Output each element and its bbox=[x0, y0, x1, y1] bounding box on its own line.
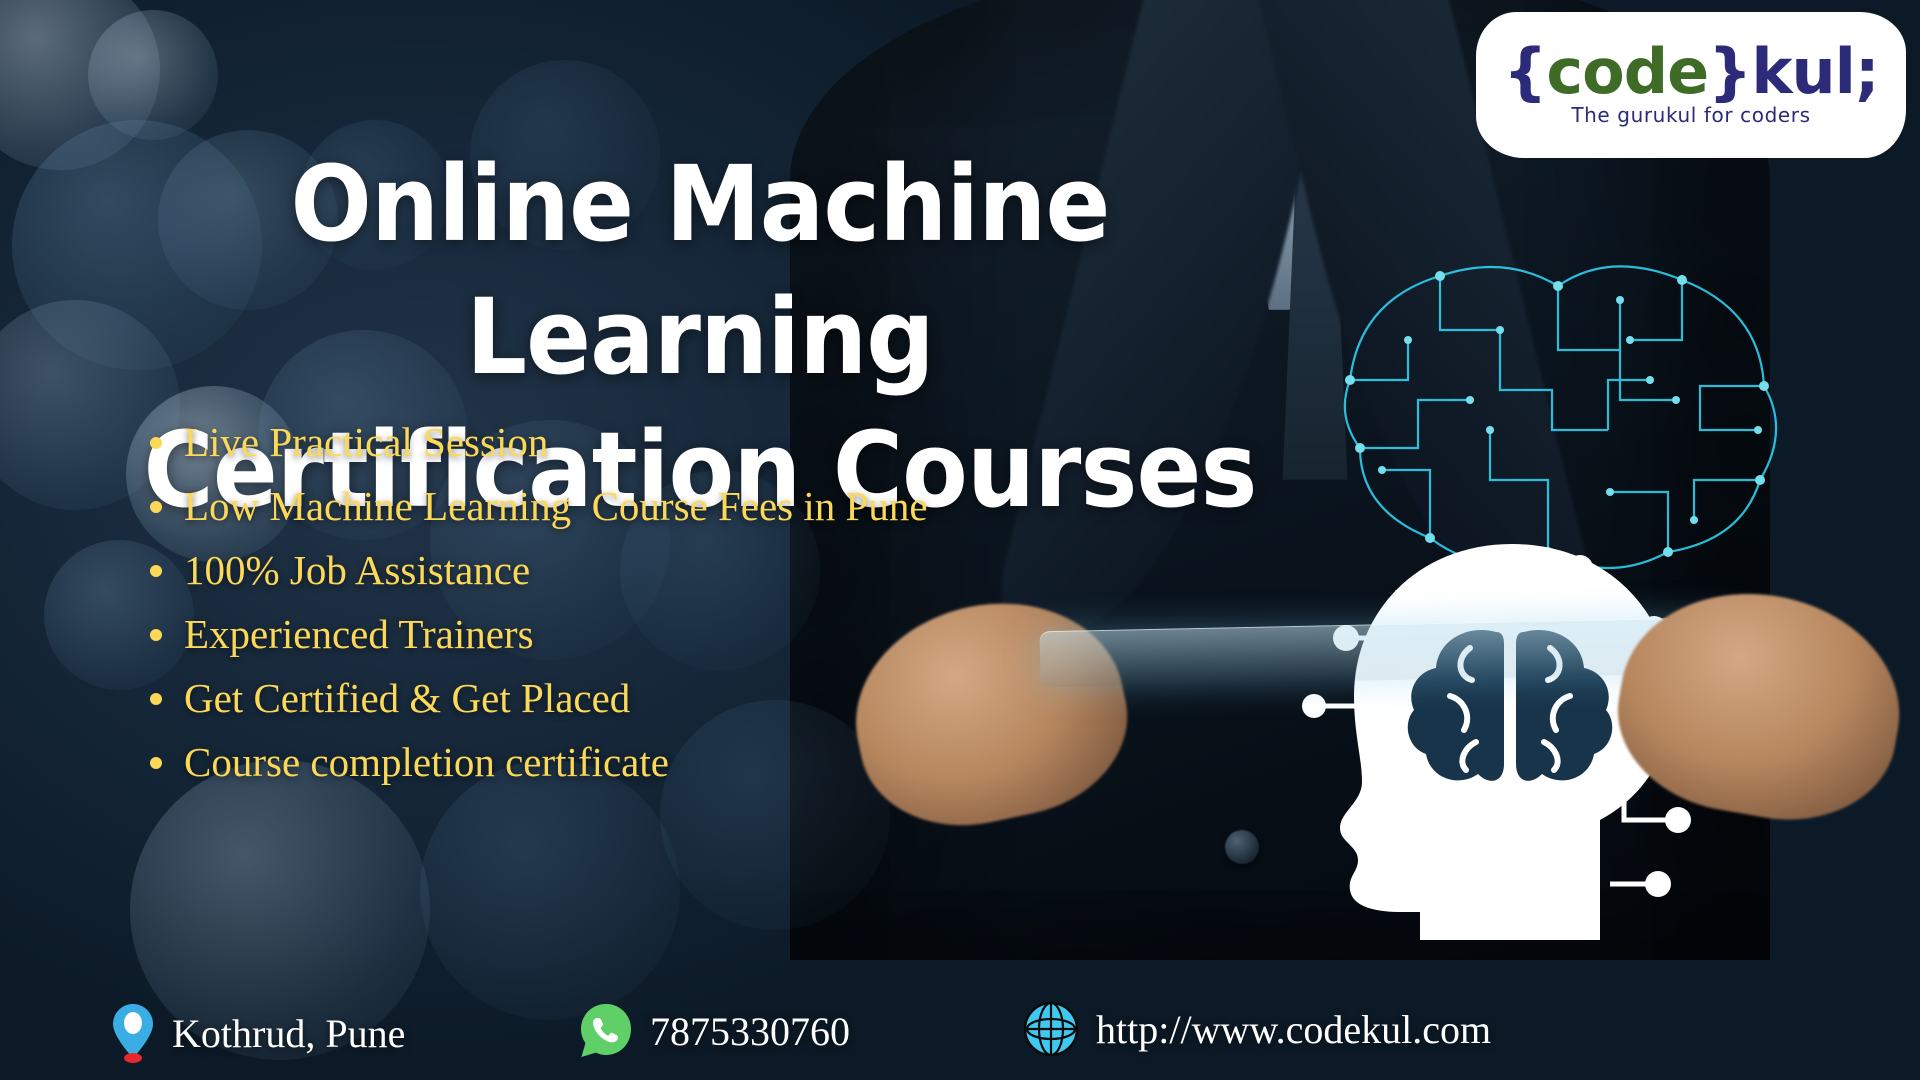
logo-brace-open: { bbox=[1503, 35, 1546, 108]
bullet-dot-icon bbox=[150, 629, 162, 641]
list-item-label: Course completion certificate bbox=[184, 739, 669, 785]
list-item: Get Certified & Get Placed bbox=[150, 678, 1170, 719]
contact-website[interactable]: http://www.codekul.com bbox=[1022, 1000, 1491, 1058]
logo-code-text: code bbox=[1546, 35, 1708, 108]
logo-kul-text: kul; bbox=[1751, 35, 1878, 108]
list-item: 100% Job Assistance bbox=[150, 550, 1170, 591]
phone-label: 7875330760 bbox=[650, 1008, 850, 1055]
bullet-dot-icon bbox=[150, 501, 162, 513]
logo-wordmark: {code}kul; bbox=[1503, 43, 1878, 102]
bullet-dot-icon bbox=[150, 437, 162, 449]
bullet-dot-icon bbox=[150, 757, 162, 769]
bullet-dot-icon bbox=[150, 565, 162, 577]
list-item-label: 100% Job Assistance bbox=[184, 547, 530, 593]
contact-phone[interactable]: 7875330760 bbox=[578, 1002, 850, 1060]
map-pin-icon bbox=[110, 1002, 156, 1064]
whatsapp-icon bbox=[578, 1002, 634, 1060]
promotional-banner: {code}kul; The gurukul for coders Online… bbox=[0, 0, 1920, 1080]
globe-icon bbox=[1022, 1000, 1080, 1058]
list-item: Live Practical Session bbox=[150, 422, 1170, 463]
bullet-dot-icon bbox=[150, 693, 162, 705]
logo-brace-close: } bbox=[1708, 35, 1751, 108]
contact-location[interactable]: Kothrud, Pune bbox=[110, 1002, 405, 1064]
codekul-logo[interactable]: {code}kul; The gurukul for coders bbox=[1482, 18, 1900, 152]
suit-button bbox=[1225, 830, 1259, 864]
list-item: Course completion certificate bbox=[150, 742, 1170, 783]
feature-list: Live Practical Session Low Machine Learn… bbox=[150, 422, 1170, 806]
location-label: Kothrud, Pune bbox=[172, 1010, 405, 1057]
list-item: Low Machine Learning Course Fees in Pune bbox=[150, 486, 1170, 527]
title-line-1: Online Machine Learning bbox=[291, 143, 1110, 398]
contact-bar: Kothrud, Pune 7875330760 http://www.code… bbox=[110, 1000, 1870, 1062]
list-item-label: Live Practical Session bbox=[184, 419, 548, 465]
logo-tagline: The gurukul for coders bbox=[1571, 103, 1810, 127]
website-label: http://www.codekul.com bbox=[1096, 1006, 1491, 1053]
list-item-label: Experienced Trainers bbox=[184, 611, 534, 657]
list-item-label: Low Machine Learning Course Fees in Pune bbox=[184, 483, 928, 529]
list-item-label: Get Certified & Get Placed bbox=[184, 675, 630, 721]
list-item: Experienced Trainers bbox=[150, 614, 1170, 655]
